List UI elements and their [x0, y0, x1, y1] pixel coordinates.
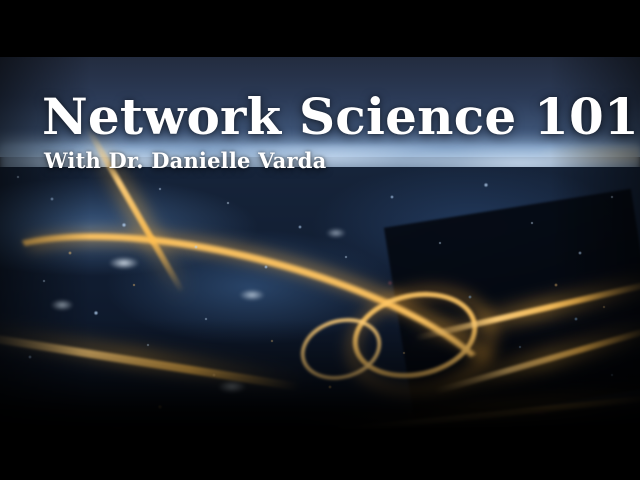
title-text-block: Network Science 101 With Dr. Danielle Va…	[42, 92, 639, 172]
presenter-subtitle: With Dr. Danielle Varda	[44, 149, 639, 172]
title-card: Network Science 101 With Dr. Danielle Va…	[0, 0, 640, 480]
page-title: Network Science 101	[42, 92, 639, 142]
vignette-bottom	[0, 320, 640, 430]
letterbox-bar-bottom	[0, 430, 640, 480]
letterbox-bar-top	[0, 0, 640, 57]
